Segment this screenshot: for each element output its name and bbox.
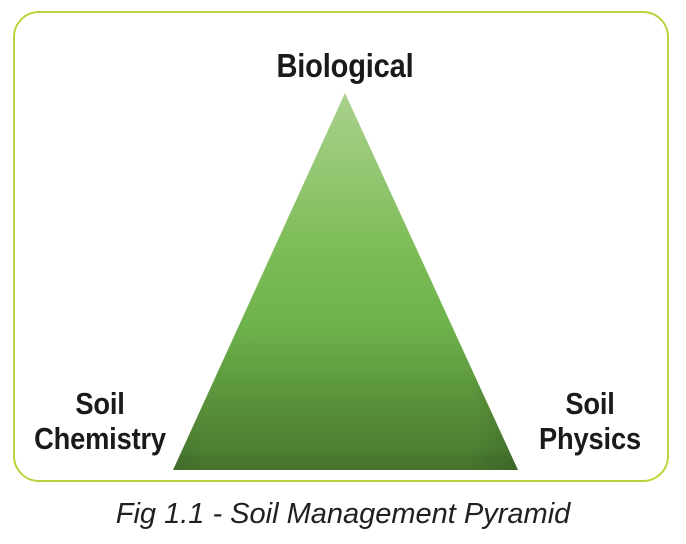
vertex-label-soil-chemistry: Soil Chemistry <box>21 386 179 457</box>
vertex-label-soil-chemistry-line1: Soil <box>21 386 179 421</box>
vertex-label-soil-physics: Soil Physics <box>511 386 669 457</box>
vertex-label-biological-line1: Biological <box>222 47 468 85</box>
vertex-label-soil-physics-line2: Physics <box>511 421 669 456</box>
vertex-label-biological: Biological <box>222 47 468 85</box>
figure-caption: Fig 1.1 - Soil Management Pyramid <box>0 498 686 531</box>
vertex-label-soil-physics-line1: Soil <box>511 386 669 421</box>
figure-root: Biological Soil Chemistry Soil Physics F… <box>0 0 686 544</box>
vertex-label-soil-chemistry-line2: Chemistry <box>21 421 179 456</box>
